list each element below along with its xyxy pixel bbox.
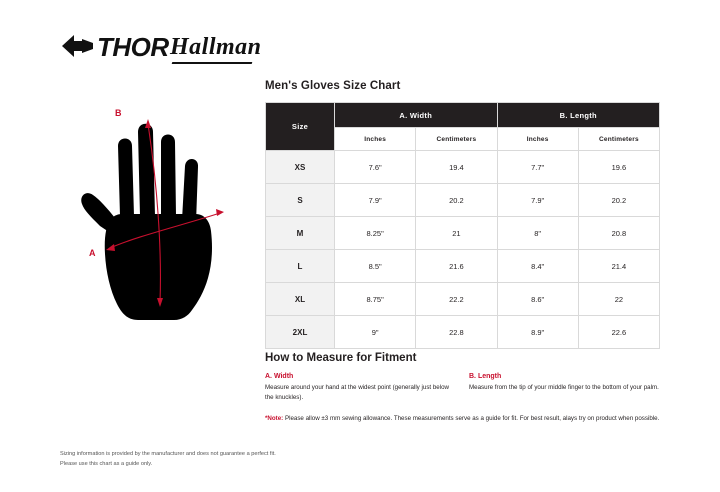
how-to-width-block: A. Width Measure around your hand at the… xyxy=(265,373,455,402)
cell-size: S xyxy=(266,184,335,217)
glove-illustration-svg: B A xyxy=(52,88,252,328)
header-width: A. Width xyxy=(335,103,498,128)
cell-length-cm: 22.6 xyxy=(578,316,659,349)
cell-width-cm: 20.2 xyxy=(416,184,497,217)
cell-size: XL xyxy=(266,283,335,316)
cell-size: L xyxy=(266,250,335,283)
cell-size: M xyxy=(266,217,335,250)
cell-width-cm: 19.4 xyxy=(416,151,497,184)
cell-width-cm: 21 xyxy=(416,217,497,250)
diagram-label-b: B xyxy=(115,108,122,118)
thor-hammer-icon xyxy=(60,32,94,62)
hallman-underline xyxy=(172,62,253,64)
cell-length-in: 7.7" xyxy=(497,151,578,184)
header-width-inches: Inches xyxy=(335,128,416,151)
how-to-measure-title: How to Measure for Fitment xyxy=(265,352,660,364)
thor-logo: THOR xyxy=(60,32,169,62)
cell-size: XS xyxy=(266,151,335,184)
cell-length-in: 8.6" xyxy=(497,283,578,316)
table-body: XS 7.6" 19.4 7.7" 19.6 S 7.9" 20.2 7.9" … xyxy=(266,151,660,349)
cell-width-cm: 22.2 xyxy=(416,283,497,316)
hallman-wordmark: Hallman xyxy=(170,34,262,61)
table-row: S 7.9" 20.2 7.9" 20.2 xyxy=(266,184,660,217)
cell-width-in: 8.75" xyxy=(335,283,416,316)
how-to-length-block: B. Length Measure from the tip of your m… xyxy=(469,373,659,402)
cell-width-in: 8.5" xyxy=(335,250,416,283)
cell-length-in: 7.9" xyxy=(497,184,578,217)
how-to-length-label: B. Length xyxy=(469,373,659,380)
diagram-label-a: A xyxy=(89,248,96,258)
measurement-note: *Note: Please allow ±3 mm sewing allowan… xyxy=(265,414,660,424)
cell-length-cm: 21.4 xyxy=(578,250,659,283)
thor-wordmark: THOR xyxy=(97,34,169,60)
header-width-centimeters: Centimeters xyxy=(416,128,497,151)
size-chart-section: Men's Gloves Size Chart Size A. Width B.… xyxy=(265,80,660,349)
cell-length-cm: 20.2 xyxy=(578,184,659,217)
how-to-measure-section: How to Measure for Fitment A. Width Meas… xyxy=(265,352,660,424)
brand-logos: THOR Hallman xyxy=(60,28,280,70)
cell-width-in: 8.25" xyxy=(335,217,416,250)
table-row: 2XL 9" 22.8 8.9" 22.6 xyxy=(266,316,660,349)
header-size: Size xyxy=(266,103,335,151)
how-to-width-text: Measure around your hand at the widest p… xyxy=(265,383,455,402)
header-length: B. Length xyxy=(497,103,660,128)
cell-size: 2XL xyxy=(266,316,335,349)
table-row: M 8.25" 21 8" 20.8 xyxy=(266,217,660,250)
table-row: XS 7.6" 19.4 7.7" 19.6 xyxy=(266,151,660,184)
table-header-row-groups: Size A. Width B. Length xyxy=(266,103,660,128)
size-chart-table: Size A. Width B. Length Inches Centimete… xyxy=(265,102,660,349)
how-to-width-label: A. Width xyxy=(265,373,455,380)
table-row: XL 8.75" 22.2 8.6" 22 xyxy=(266,283,660,316)
cell-width-cm: 21.6 xyxy=(416,250,497,283)
cell-length-in: 8.4" xyxy=(497,250,578,283)
cell-width-in: 7.6" xyxy=(335,151,416,184)
header-length-centimeters: Centimeters xyxy=(578,128,659,151)
footer-line-2: Please use this chart as a guide only. xyxy=(60,460,380,470)
cell-width-cm: 22.8 xyxy=(416,316,497,349)
header-length-inches: Inches xyxy=(497,128,578,151)
footer-disclaimer: Sizing information is provided by the ma… xyxy=(60,450,380,469)
cell-length-cm: 19.6 xyxy=(578,151,659,184)
table-row: L 8.5" 21.6 8.4" 21.4 xyxy=(266,250,660,283)
how-to-length-text: Measure from the tip of your middle fing… xyxy=(469,383,659,393)
glove-diagram: B A xyxy=(52,88,252,328)
size-chart-page: THOR Hallman xyxy=(0,0,720,492)
chart-title: Men's Gloves Size Chart xyxy=(265,80,660,92)
cell-width-in: 7.9" xyxy=(335,184,416,217)
footer-line-1: Sizing information is provided by the ma… xyxy=(60,450,380,460)
cell-width-in: 9" xyxy=(335,316,416,349)
cell-length-cm: 20.8 xyxy=(578,217,659,250)
cell-length-cm: 22 xyxy=(578,283,659,316)
measurement-note-text: Please allow ±3 mm sewing allowance. The… xyxy=(285,415,659,422)
measurement-note-label: *Note: xyxy=(265,415,283,422)
cell-length-in: 8.9" xyxy=(497,316,578,349)
cell-length-in: 8" xyxy=(497,217,578,250)
